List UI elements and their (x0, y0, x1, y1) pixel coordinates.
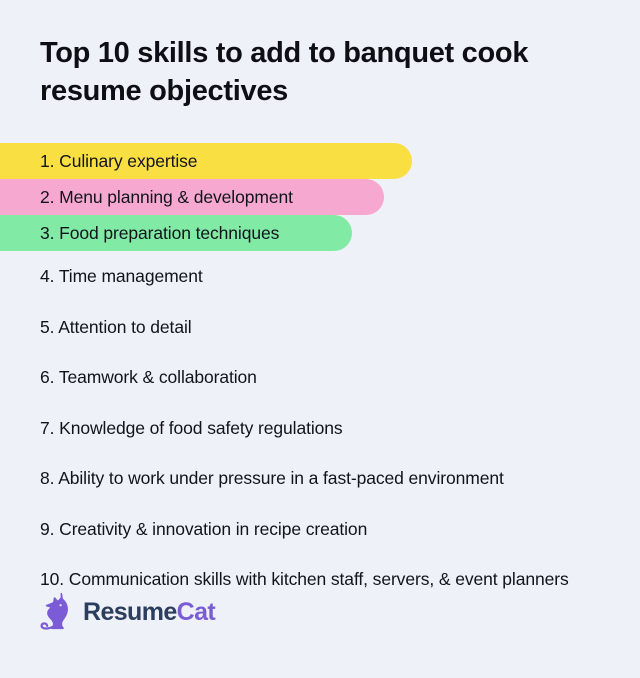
list-item: 1. Culinary expertise (0, 143, 412, 179)
brand-word-resume: Resume (83, 598, 177, 626)
page-title: Top 10 skills to add to banquet cook res… (40, 34, 570, 111)
list-item: 9. Creativity & innovation in recipe cre… (0, 504, 620, 555)
list-item: 5. Attention to detail (0, 302, 620, 353)
brand-wordmark: ResumeCat (83, 600, 215, 625)
brand-word-cat: Cat (177, 598, 215, 626)
list-item-label: 2. Menu planning & development (40, 185, 293, 210)
list-item: 3. Food preparation techniques (0, 215, 352, 251)
list-item: 2. Menu planning & development (0, 179, 384, 215)
list-item: 6. Teamwork & collaboration (0, 352, 620, 403)
skills-list: 1. Culinary expertise 2. Menu planning &… (0, 143, 640, 605)
brand-logo: ResumeCat (40, 591, 215, 633)
list-item: 8. Ability to work under pressure in a f… (0, 453, 620, 504)
list-item-label: 1. Culinary expertise (40, 149, 197, 174)
list-item: 7. Knowledge of food safety regulations (0, 403, 620, 454)
list-item: 4. Time management (0, 251, 620, 302)
title-block: Top 10 skills to add to banquet cook res… (0, 34, 640, 111)
sitting-cat-icon (40, 591, 74, 633)
list-item-label: 3. Food preparation techniques (40, 221, 279, 246)
infographic-page: Top 10 skills to add to banquet cook res… (0, 0, 640, 678)
